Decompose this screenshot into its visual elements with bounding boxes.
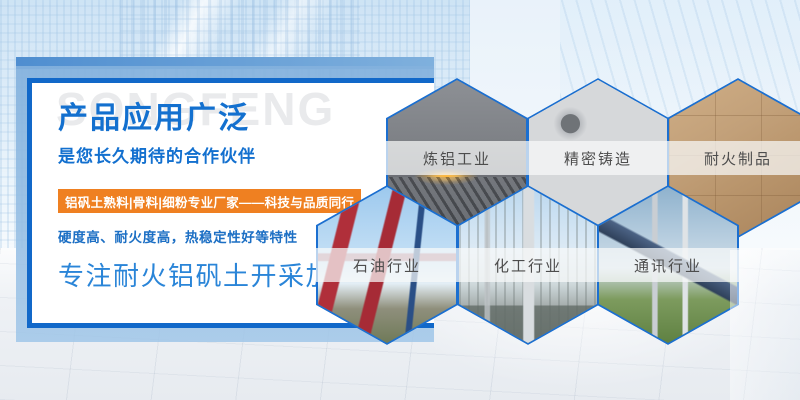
hexagon-label: 炼铝工业: [386, 141, 528, 175]
hexagon-gallery: 炼铝工业 精密铸造 耐火制品 石油行业 化工行业 通讯行业: [0, 0, 800, 400]
hexagon-label: 化工行业: [457, 248, 599, 282]
hexagon-label: 通讯行业: [597, 248, 739, 282]
foreground-glass-pane: [730, 250, 800, 400]
hexagon-label: 耐火制品: [667, 141, 800, 175]
hexagon-label: 精密铸造: [527, 141, 669, 175]
promotional-banner: SONGFENG 产品应用广泛 是您长久期待的合作伙伴 铝矾土熟料|骨料|细粉专…: [0, 0, 800, 400]
hexagon-label: 石油行业: [316, 248, 458, 282]
